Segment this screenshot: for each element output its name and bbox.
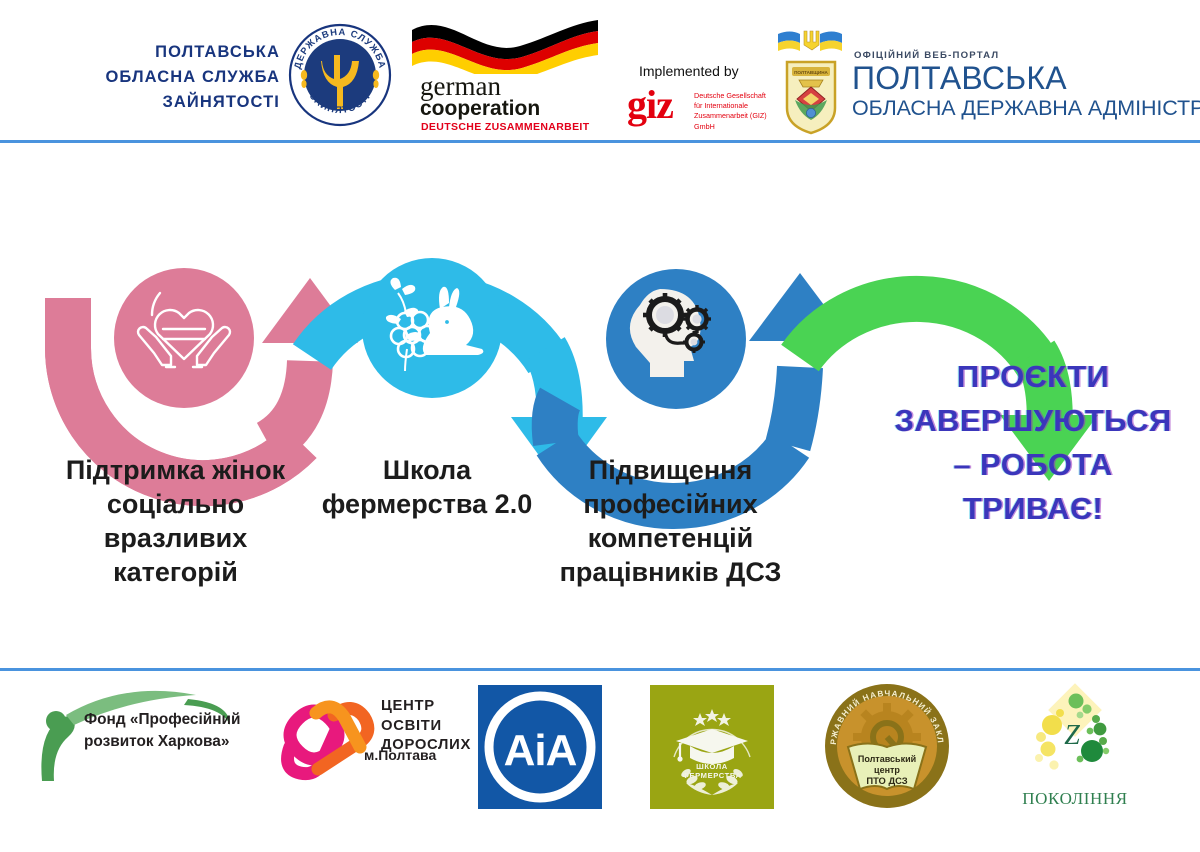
step-1-caption: Підтримка жінок соціально вразливих кате… <box>48 453 303 589</box>
adult-education-label-line-2: ОСВІТИ <box>381 717 471 737</box>
employment-service-wordmark-line-1: ПОЛТАВСЬКА <box>60 40 280 65</box>
partner-aia: AiA <box>478 671 608 852</box>
german-cooperation-logo: german cooperation DEUTSCHE ZUSAMMENARBE… <box>410 18 600 128</box>
svg-text:ПТО ДСЗ: ПТО ДСЗ <box>866 775 907 786</box>
svg-text:ПОЛТАВЩИНА: ПОЛТАВЩИНА <box>794 70 828 75</box>
german-cooperation-line-3: DEUTSCHE ZUSAMMENARBEIT <box>421 122 589 133</box>
poltava-employment-service-emblem-icon: ДЕРЖАВНА СЛУЖБА ЗАЙНЯТОСТІ <box>288 23 392 127</box>
closing-line-3: – РОБОТА <box>872 443 1194 487</box>
step-2-caption: Школа фермерства 2.0 <box>312 453 542 521</box>
infographic-poster: ПОЛТАВСЬКА ОБЛАСНА СЛУЖБА ЗАЙНЯТОСТІ <box>0 0 1200 852</box>
german-cooperation-line-2: cooperation <box>420 98 540 119</box>
step-1-icon-circle <box>114 268 254 408</box>
german-flag-ribbon-icon <box>410 18 600 74</box>
adult-education-knot-icon <box>272 685 378 795</box>
fond-label: Фонд «Професійний розвиток Харкова» <box>84 709 240 753</box>
employment-service-wordmark-line-3: ЗАЙНЯТОСТІ <box>60 90 280 115</box>
shkola-fermerstva-logo-icon: ШКОЛА ФЕРМЕРСТВА <box>650 685 774 809</box>
giz-wordmark: giz <box>627 85 673 125</box>
poltava-oblast-administration-logo: ПОЛТАВЩИНА ОФІЦІЙНИЙ ВЕБ-ПОРТАЛ ПОЛТАВСЬ… <box>770 26 1195 136</box>
adult-education-city: м.Полтава <box>364 747 436 763</box>
partner-logo-bar: Фонд «Професійний розвиток Харкова» ЦЕНТ… <box>0 671 1200 852</box>
fond-label-line-2: розвиток Харкова» <box>84 731 240 753</box>
gear-medium-icon <box>683 305 711 333</box>
svg-text:Z: Z <box>1064 720 1080 751</box>
header-logo-bar: ПОЛТАВСЬКА ОБЛАСНА СЛУЖБА ЗАЙНЯТОСТІ <box>0 0 1200 142</box>
giz-logo-block: Implemented by giz Deutsche Gesellschaft… <box>612 63 777 129</box>
partner-tsentr-osvity-doroslykh: ЦЕНТР ОСВІТИ ДОРОСЛИХ м.Полтава <box>272 671 472 852</box>
partner-fond-profesiinyi-rozvytok-kharkova: Фонд «Професійний розвиток Харкова» <box>22 671 272 852</box>
pokolinnya-z-logo-icon: Z <box>1010 681 1140 793</box>
closing-line-4: ТРИВАЄ! <box>872 487 1194 531</box>
aia-logo-icon: AiA <box>478 685 602 809</box>
closing-line-1: ПРОЄКТИ <box>872 355 1194 399</box>
partner-shkola-fermerstva: ШКОЛА ФЕРМЕРСТВА <box>650 671 780 852</box>
adult-education-label-line-1: ЦЕНТР <box>381 697 471 717</box>
closing-statement: ПРОЄКТИ ЗАВЕРШУЮТЬСЯ – РОБОТА ТРИВАЄ! <box>872 355 1194 531</box>
german-cooperation-line-1: german <box>420 73 501 100</box>
ukraine-flags-icon <box>776 28 844 54</box>
partner-poltavskyi-tsentr-pto-dsz: Полтавський центр ПТО ДСЗ ДЕРЖАВНИЙ НАВЧ… <box>822 671 962 852</box>
pto-dsz-emblem-icon: Полтавський центр ПТО ДСЗ ДЕРЖАВНИЙ НАВЧ… <box>822 681 952 811</box>
partner-pokolinnya-z: Z ПОКОЛІННЯ <box>1010 671 1150 852</box>
closing-line-2: ЗАВЕРШУЮТЬСЯ <box>872 399 1194 443</box>
step-2-icon-circle <box>362 258 502 398</box>
svg-text:Полтавський: Полтавський <box>858 754 916 764</box>
poltava-oblast-coat-of-arms-icon: ПОЛТАВЩИНА <box>783 58 839 136</box>
step-3-icon-circle <box>606 269 746 409</box>
oda-title: ПОЛТАВСЬКА <box>852 62 1067 95</box>
svg-text:AiA: AiA <box>504 726 577 775</box>
pokolinnya-label: ПОКОЛІННЯ <box>1010 789 1140 809</box>
fond-label-line-1: Фонд «Професійний <box>84 709 240 731</box>
employment-service-wordmark: ПОЛТАВСЬКА ОБЛАСНА СЛУЖБА ЗАЙНЯТОСТІ <box>60 40 280 115</box>
oda-subtitle: ОБЛАСНА ДЕРЖАВНА АДМІНІСТРАЦІЯ <box>852 98 1200 120</box>
svg-text:центр: центр <box>874 765 900 775</box>
svg-text:ШКОЛА: ШКОЛА <box>696 762 728 771</box>
implemented-by-label: Implemented by <box>639 63 739 79</box>
step-3-caption: Підвищення професійних компетенцій праці… <box>538 453 803 589</box>
employment-service-wordmark-line-2: ОБЛАСНА СЛУЖБА <box>60 65 280 90</box>
main-process-diagram: Підтримка жінок соціально вразливих кате… <box>0 143 1200 668</box>
